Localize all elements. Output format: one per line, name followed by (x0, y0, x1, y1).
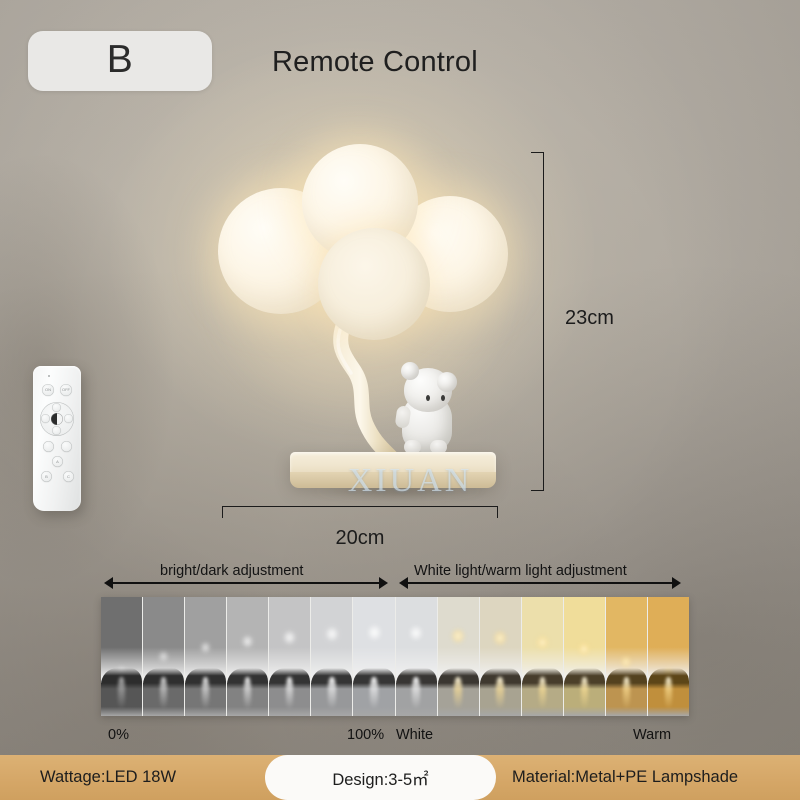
width-dimension-label: 20cm (222, 527, 498, 550)
sample-panel (480, 597, 522, 716)
panel-water-reflection (496, 677, 504, 709)
height-dimension-line (543, 152, 544, 491)
remote-button-off-label: OFF (62, 388, 70, 392)
panel-water-reflection (412, 677, 420, 709)
panel-sun-glow (534, 633, 551, 652)
panel-sky (564, 597, 605, 678)
panel-water-reflection (370, 677, 378, 709)
bear-eye-right (441, 395, 445, 401)
panel-water-reflection (581, 677, 588, 709)
bear-eye-left (426, 395, 430, 401)
cloud-wall-lamp: XIUAN (0, 0, 800, 560)
width-dimension-cap-left (222, 506, 223, 518)
remote-button-sun-icon[interactable] (61, 441, 72, 452)
remote-ir-led-icon (48, 375, 50, 377)
remote-button-a-label: A (56, 460, 59, 464)
product-spec-image: B Remote Control (0, 0, 800, 800)
panel-water-reflection (623, 677, 630, 709)
remote-dpad-right-icon[interactable] (64, 414, 73, 423)
remote-button-a[interactable]: A (52, 456, 63, 467)
remote-button-on[interactable]: ON (42, 384, 54, 396)
sample-panel (353, 597, 395, 716)
remote-button-b-label: B (45, 475, 48, 479)
cct-arrow-head-right (672, 577, 681, 589)
sample-panel (564, 597, 606, 716)
sample-panel (606, 597, 648, 716)
panel-water-reflection (160, 677, 167, 709)
width-dimension-cap-right (497, 506, 498, 518)
remote-button-on-label: ON (45, 388, 51, 392)
remote-button-c[interactable]: C (63, 471, 74, 482)
remote-dpad-down-icon[interactable] (52, 426, 61, 435)
height-dimension-cap-bottom (531, 490, 544, 491)
scale-label-zero: 0% (108, 727, 129, 743)
dimming-cct-sample-strip (101, 597, 689, 716)
bear-ear-left (401, 362, 419, 380)
sample-panel (438, 597, 480, 716)
sample-panel (227, 597, 269, 716)
sample-panel (522, 597, 564, 716)
bear-ear-right (437, 372, 457, 392)
remote-button-b[interactable]: B (41, 471, 52, 482)
scale-label-warm: Warm (633, 727, 671, 743)
panel-water-reflection (454, 677, 462, 709)
scale-label-hundred: 100% (347, 727, 384, 743)
panel-sky (185, 597, 226, 678)
panel-sun-glow (407, 623, 425, 643)
spec-design: Design:3-5㎡ (332, 766, 428, 790)
remote-dpad-up-icon[interactable] (52, 403, 61, 412)
spec-design-pill: Design:3-5㎡ (265, 755, 496, 800)
panel-sun-glow (323, 624, 341, 644)
panel-sun-glow (365, 622, 384, 643)
remote-control[interactable]: ON OFF A B C (33, 366, 81, 511)
cct-arrow-line (407, 582, 673, 584)
remote-brightness-center-icon[interactable] (51, 413, 63, 425)
scale-label-white: White (396, 727, 433, 743)
panel-water-reflection (286, 677, 293, 709)
sample-panel (648, 597, 689, 716)
spec-wattage: Wattage:LED 18W (40, 768, 176, 787)
sample-panel (185, 597, 227, 716)
panel-water-reflection (539, 677, 546, 709)
remote-button-off[interactable]: OFF (60, 384, 72, 396)
sample-panel (396, 597, 438, 716)
sample-panel (101, 597, 143, 716)
panel-water-reflection (328, 677, 336, 709)
spec-material: Material:Metal+PE Lampshade (512, 768, 738, 787)
remote-button-c-label: C (67, 475, 70, 479)
remote-dpad-left-icon[interactable] (41, 414, 50, 423)
panel-water-reflection (665, 677, 672, 709)
width-dimension-line (222, 506, 498, 507)
sample-panel (143, 597, 185, 716)
height-dimension-label: 23cm (565, 307, 614, 330)
lamp-globe-bottom (318, 228, 430, 340)
bear-figurine (392, 362, 470, 454)
remote-button-moon-icon[interactable] (43, 441, 54, 452)
cct-adjustment-label: White light/warm light adjustment (414, 563, 627, 579)
lamp-base-side (290, 472, 496, 488)
sample-panel (269, 597, 311, 716)
panel-water-reflection (118, 677, 125, 709)
sample-panel (311, 597, 353, 716)
panel-water-reflection (244, 677, 251, 709)
panel-sky (143, 597, 184, 678)
brightness-adjustment-label: bright/dark adjustment (160, 563, 303, 579)
brightness-arrow-head-right (379, 577, 388, 589)
brightness-arrow-line (112, 582, 380, 584)
panel-water-reflection (202, 677, 209, 709)
